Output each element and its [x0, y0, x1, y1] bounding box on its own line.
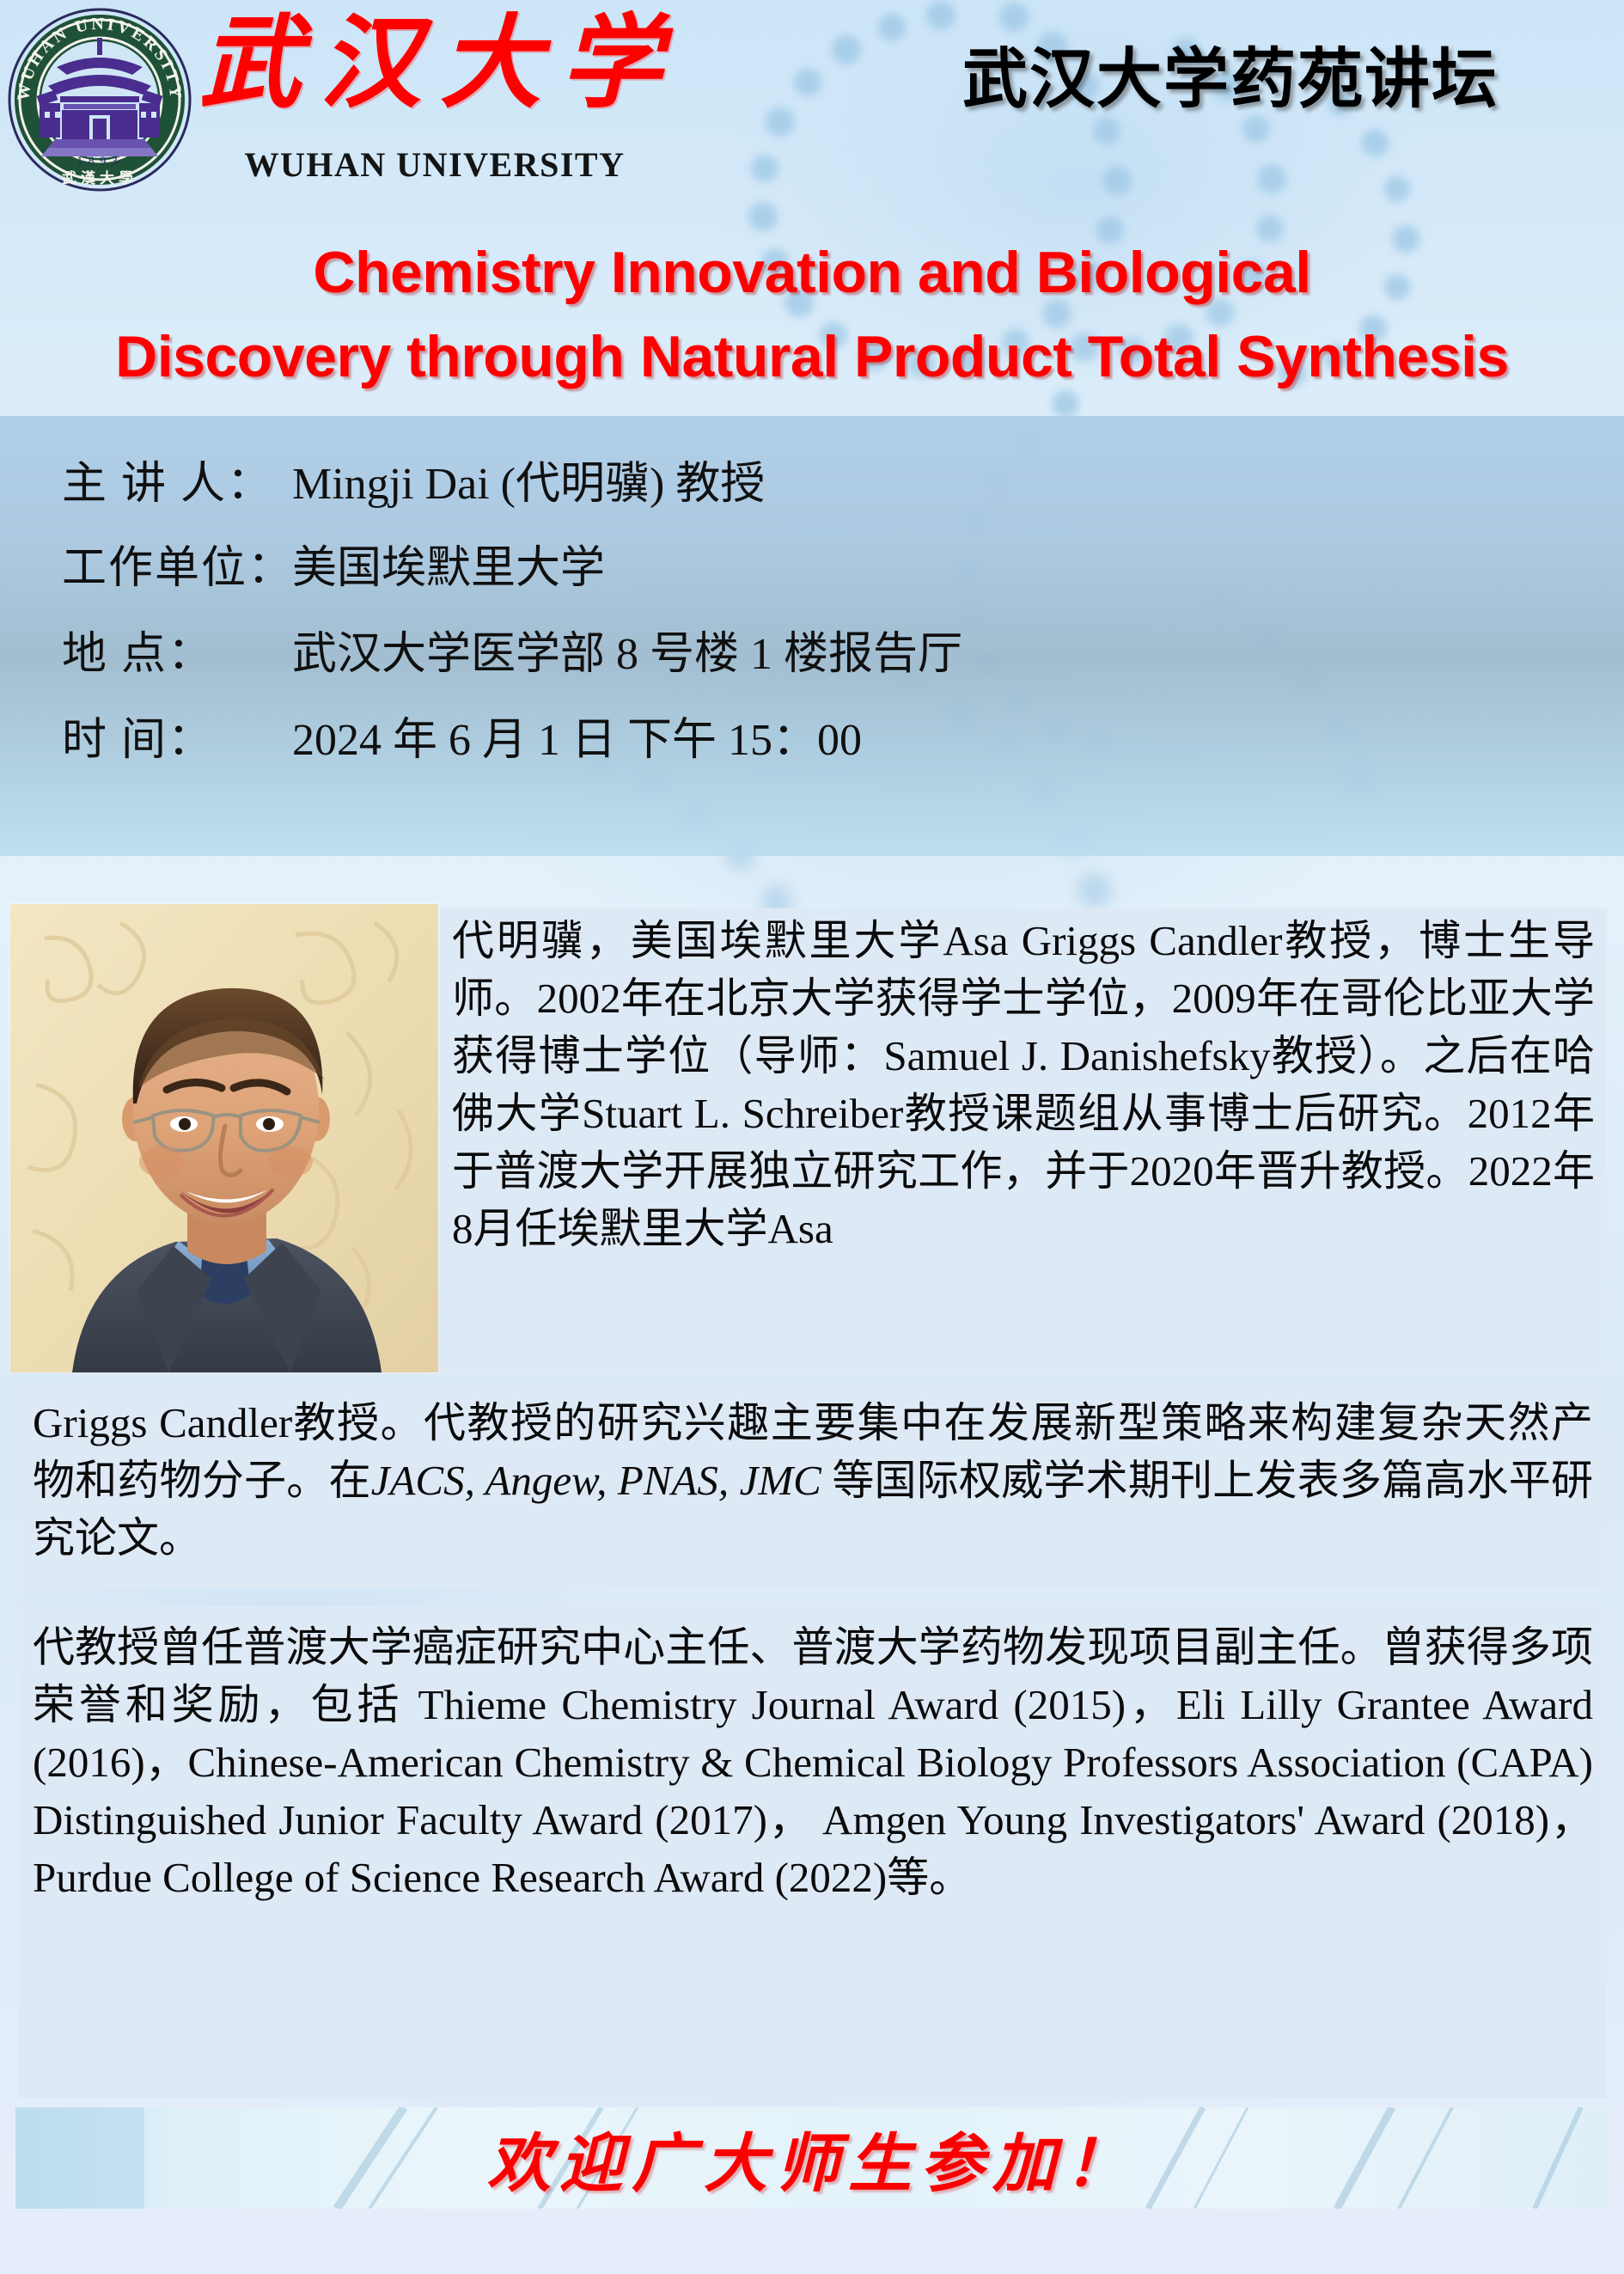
info-label-affiliation: 工作单位： — [62, 531, 292, 596]
info-label-speaker: 主 讲 人： — [62, 447, 292, 511]
info-value-affiliation: 美国埃默里大学 — [292, 544, 605, 593]
info-row-affiliation: 工作单位：美国埃默里大学 — [62, 531, 605, 596]
university-name-chinese: 武汉大学 — [199, 9, 646, 125]
info-row-location: 地 点：武汉大学医学部 8 号楼 1 楼报告厅 — [62, 617, 962, 682]
awards-paragraph: 代教授曾任普渡大学癌症研究中心主任、普渡大学药物发现项目副主任。曾获得多项荣誉和… — [19, 1606, 1607, 2098]
forum-title: 武汉大学药苑讲坛 — [962, 26, 1499, 120]
info-label-time: 时 间： — [62, 703, 292, 767]
biography-paragraph-bottom: Griggs Candler教授。代教授的研究兴趣主要集中在发展新型策略来构建复… — [19, 1387, 1607, 1589]
lecture-title-line-1: Chemistry Innovation and Biological — [0, 230, 1624, 315]
biography-text-part1: 代明骥，美国埃默里大学Asa Griggs Candler教授，博士生导师。20… — [440, 908, 1607, 1257]
lecture-info-panel: 主 讲 人：Mingji Dai (代明骥) 教授 工作单位：美国埃默里大学 地… — [0, 416, 1624, 856]
university-name-english: WUHAN UNIVERSITY — [211, 144, 658, 185]
svg-text:1893: 1893 — [76, 155, 123, 168]
journal-names: JACS, Angew, PNAS, JMC — [371, 1457, 821, 1504]
info-value-speaker: Mingji Dai (代明骥) 教授 — [292, 460, 765, 509]
biography-paragraph-top: 代明骥，美国埃默里大学Asa Griggs Candler教授，博士生导师。20… — [440, 908, 1607, 1373]
seminar-poster: WUHAN UNIVERSITY — [0, 0, 1624, 2274]
info-row-speaker: 主 讲 人：Mingji Dai (代明骥) 教授 — [62, 447, 765, 511]
awards-text: 代教授曾任普渡大学癌症研究中心主任、普渡大学药物发现项目副主任。曾获得多项荣誉和… — [19, 1606, 1607, 1906]
info-value-location: 武汉大学医学部 8 号楼 1 楼报告厅 — [292, 630, 962, 679]
info-value-time: 2024 年 6 月 1 日 下午 15：00 — [292, 716, 862, 765]
svg-text:武漢大學: 武漢大學 — [62, 169, 137, 186]
info-label-location: 地 点： — [62, 617, 292, 682]
poster-header: WUHAN UNIVERSITY — [0, 0, 1624, 222]
lecture-title: Chemistry Innovation and Biological Disc… — [0, 230, 1624, 402]
footer-blank-area — [0, 2209, 1624, 2274]
biography-text-part2: Griggs Candler教授。代教授的研究兴趣主要集中在发展新型策略来构建复… — [19, 1387, 1607, 1567]
wuhan-university-seal-logo: WUHAN UNIVERSITY — [7, 7, 192, 193]
welcome-message: 欢迎广大师生参加！ — [0, 2112, 1624, 2204]
speaker-photo — [10, 904, 438, 1372]
lecture-title-line-2: Discovery through Natural Product Total … — [0, 315, 1624, 399]
info-row-time: 时 间：2024 年 6 月 1 日 下午 15：00 — [62, 703, 862, 767]
